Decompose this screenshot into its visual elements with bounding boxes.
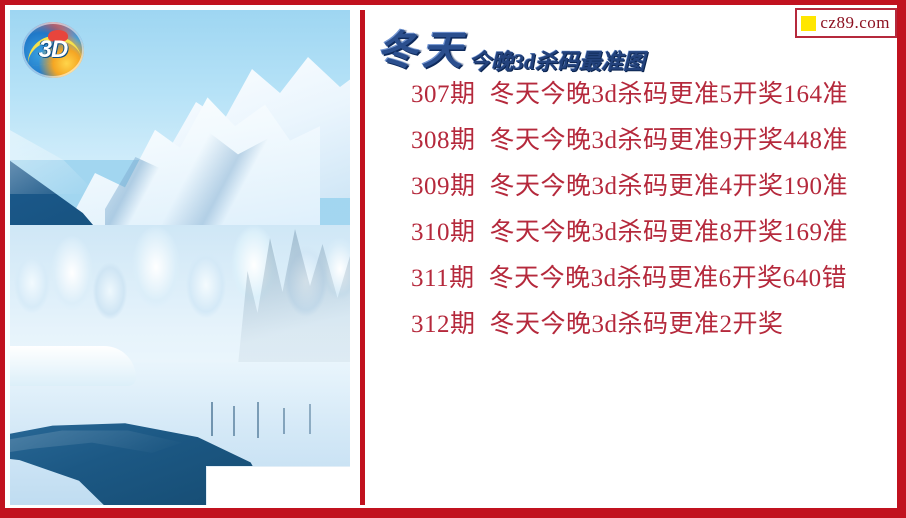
photo-blank-overlay-box bbox=[206, 466, 350, 505]
logo-label: 3D bbox=[22, 22, 84, 78]
row-body: 冬天今晚3d杀码更准6开奖640错 bbox=[489, 265, 848, 292]
list-item: 311期冬天今晚3d杀码更准6开奖640错 bbox=[411, 256, 891, 302]
poster-title: 冬天今晚3d杀码最准图 bbox=[377, 18, 777, 66]
list-item: 310期冬天今晚3d杀码更准8开奖169准 bbox=[411, 210, 891, 256]
content-panel: 冬天今晚3d杀码最准图 cz89.com 307期冬天今晚3d杀码更准5开奖16… bbox=[367, 10, 897, 505]
poster-inner: 3D 冬天今晚3d杀码最准图 cz89.com 307期冬天今晚3d杀码更准5开… bbox=[5, 5, 897, 508]
photo-saplings bbox=[205, 402, 335, 462]
title-subtitle-text: 今晚3d杀码最准图 bbox=[469, 49, 645, 74]
row-issue: 312期 bbox=[411, 311, 476, 338]
winter-photo-image bbox=[10, 10, 350, 505]
site-watermark: cz89.com bbox=[795, 8, 897, 38]
row-issue: 311期 bbox=[411, 265, 475, 292]
row-issue: 309期 bbox=[411, 173, 476, 200]
lottery-3d-logo-icon: 3D bbox=[22, 22, 84, 78]
row-body: 冬天今晚3d杀码更准5开奖164准 bbox=[490, 81, 849, 108]
photo-snow-bank bbox=[10, 346, 136, 386]
winter-photo-panel: 3D bbox=[10, 10, 350, 505]
row-issue: 307期 bbox=[411, 81, 476, 108]
list-item: 307期冬天今晚3d杀码更准5开奖164准 bbox=[411, 72, 891, 118]
poster-page: 3D 冬天今晚3d杀码最准图 cz89.com 307期冬天今晚3d杀码更准5开… bbox=[0, 0, 906, 518]
list-item: 309期冬天今晚3d杀码更准4开奖190准 bbox=[411, 164, 891, 210]
row-body: 冬天今晚3d杀码更准9开奖448准 bbox=[490, 127, 849, 154]
watermark-label: cz89.com bbox=[820, 13, 890, 33]
row-body: 冬天今晚3d杀码更准2开奖 bbox=[490, 311, 784, 338]
vertical-divider bbox=[360, 10, 365, 505]
list-item: 312期冬天今晚3d杀码更准2开奖 bbox=[411, 302, 891, 348]
title-main-text: 冬天 bbox=[377, 28, 467, 73]
row-body: 冬天今晚3d杀码更准4开奖190准 bbox=[490, 173, 849, 200]
watermark-square-icon bbox=[801, 16, 816, 31]
list-item: 308期冬天今晚3d杀码更准9开奖448准 bbox=[411, 118, 891, 164]
prediction-list: 307期冬天今晚3d杀码更准5开奖164准 308期冬天今晚3d杀码更准9开奖4… bbox=[411, 72, 891, 348]
row-issue: 308期 bbox=[411, 127, 476, 154]
row-body: 冬天今晚3d杀码更准8开奖169准 bbox=[490, 219, 849, 246]
row-issue: 310期 bbox=[411, 219, 476, 246]
